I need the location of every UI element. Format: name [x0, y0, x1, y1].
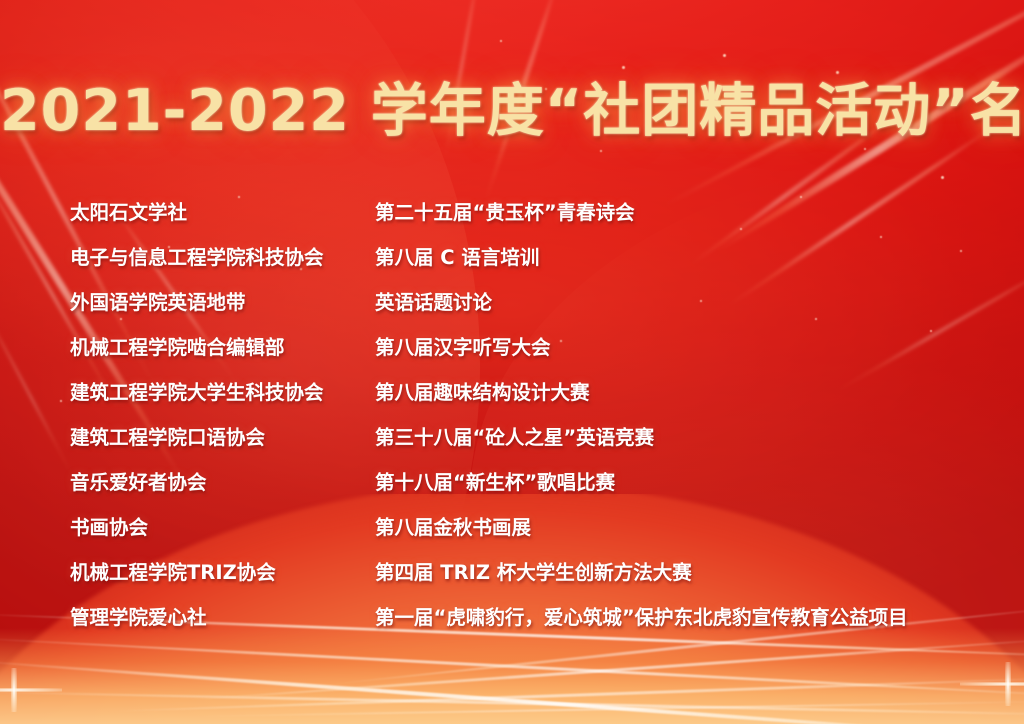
- table-row: 管理学院爱心社第一届“虎啸豹行，爱心筑城”保护东北虎豹宣传教育公益项目: [70, 601, 990, 646]
- activity-name: 第八届汉字听写大会: [375, 331, 990, 360]
- sparkle-dot: [622, 66, 625, 69]
- table-row: 机械工程学院TRIZ协会第四届 TRIZ 杯大学生创新方法大赛: [70, 556, 990, 601]
- page-title: 2021-2022 学年度“社团精品活动”名单: [0, 82, 1024, 142]
- activity-name: 第八届 C 语言培训: [375, 241, 990, 270]
- table-row: 音乐爱好者协会第十八届“新生杯”歌唱比赛: [70, 466, 990, 511]
- club-name: 电子与信息工程学院科技协会: [70, 241, 375, 270]
- activity-name: 英语话题讨论: [375, 286, 990, 315]
- sparkle-dot: [723, 54, 726, 57]
- sparkle-dot: [836, 71, 839, 74]
- table-row: 建筑工程学院口语协会第三十八届“砼人之星”英语竞赛: [70, 421, 990, 466]
- sparkle-dot: [500, 40, 502, 42]
- club-name: 音乐爱好者协会: [70, 466, 375, 495]
- sparkle-dot: [864, 148, 866, 150]
- table-row: 书画协会第八届金秋书画展: [70, 511, 990, 556]
- activity-name: 第四届 TRIZ 杯大学生创新方法大赛: [375, 556, 990, 585]
- table-row: 建筑工程学院大学生科技协会第八届趣味结构设计大赛: [70, 376, 990, 421]
- table-row: 电子与信息工程学院科技协会第八届 C 语言培训: [70, 241, 990, 286]
- club-name: 建筑工程学院口语协会: [70, 421, 375, 450]
- club-name: 机械工程学院啮合编辑部: [70, 331, 375, 360]
- activity-name: 第二十五届“贵玉杯”青春诗会: [375, 196, 990, 225]
- activity-name: 第十八届“新生杯”歌唱比赛: [375, 466, 990, 495]
- poster-root: 2021-2022 学年度“社团精品活动”名单 太阳石文学社第二十五届“贵玉杯”…: [0, 0, 1024, 724]
- club-name: 书画协会: [70, 511, 375, 540]
- table-row: 机械工程学院啮合编辑部第八届汉字听写大会: [70, 331, 990, 376]
- activity-name: 第一届“虎啸豹行，爱心筑城”保护东北虎豹宣传教育公益项目: [375, 601, 990, 630]
- club-name: 建筑工程学院大学生科技协会: [70, 376, 375, 405]
- activity-name: 第八届趣味结构设计大赛: [375, 376, 990, 405]
- club-name: 管理学院爱心社: [70, 601, 375, 630]
- activity-list: 太阳石文学社第二十五届“贵玉杯”青春诗会电子与信息工程学院科技协会第八届 C 语…: [70, 196, 990, 646]
- sparkle-dot: [60, 400, 62, 402]
- club-name: 机械工程学院TRIZ协会: [70, 556, 375, 585]
- sparkle-dot: [941, 176, 944, 179]
- club-name: 太阳石文学社: [70, 196, 375, 225]
- sparkle-dot: [600, 150, 602, 152]
- table-row: 外国语学院英语地带英语话题讨论: [70, 286, 990, 331]
- activity-name: 第三十八届“砼人之星”英语竞赛: [375, 421, 990, 450]
- club-name: 外国语学院英语地带: [70, 286, 375, 315]
- table-row: 太阳石文学社第二十五届“贵玉杯”青春诗会: [70, 196, 990, 241]
- activity-name: 第八届金秋书画展: [375, 511, 990, 540]
